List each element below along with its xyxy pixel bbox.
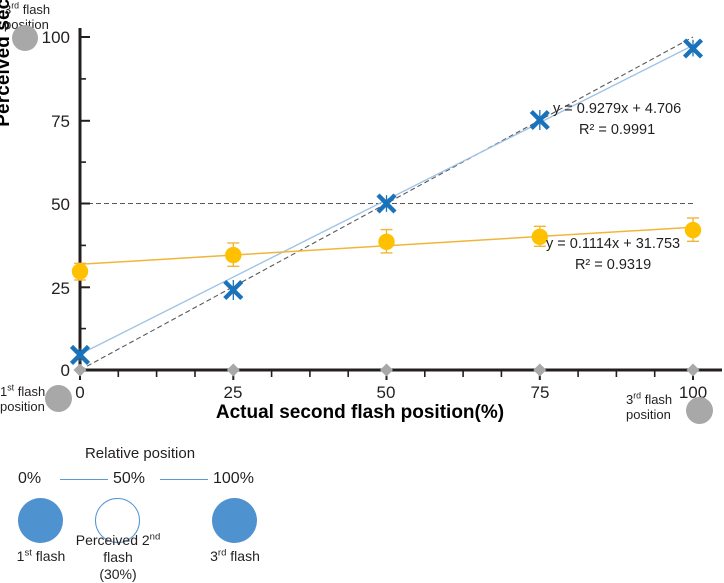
label-line-2: position <box>626 407 672 422</box>
y-tick-label-50: 50 <box>24 196 70 213</box>
label-line-1: 3rd flash <box>4 2 50 17</box>
legend-pct-0: 0% <box>18 470 41 488</box>
third-flash-marker-icon <box>12 25 38 51</box>
label-line-1: 3rd flash <box>626 392 672 407</box>
label-line-2: position <box>0 399 45 414</box>
yellow-fit-equation-line1: y = 0.1114x + 31.753 <box>546 236 680 252</box>
caption-ordinal-suffix: nd <box>150 531 161 542</box>
legend-connector-line-left <box>60 479 108 480</box>
legend-third-flash-circle <box>212 498 257 543</box>
legend-pct-50: 50% <box>113 470 145 488</box>
first-flash-position-label: 1st flash position <box>0 384 45 414</box>
legend-caption-third-flash: 3rd flash <box>196 548 274 565</box>
data-point <box>378 234 394 250</box>
caption-ordinal-number: 3 <box>210 548 218 564</box>
label-word: flash <box>641 392 672 407</box>
label-word: flash <box>19 2 50 17</box>
caption-word: flash <box>103 549 133 565</box>
data-point <box>72 263 88 279</box>
caption-text: Perceived 2 <box>76 532 150 548</box>
caption-ordinal-suffix: st <box>24 547 31 558</box>
x-tick-label-50: 50 <box>356 384 416 401</box>
legend-caption-perceived-flash: Perceived 2nd flash (30%) <box>68 532 168 583</box>
caption-word: flash <box>32 548 65 564</box>
chart-canvas <box>0 0 724 440</box>
legend-pct-100: 100% <box>213 470 254 488</box>
label-ordinal-suffix: rd <box>11 1 19 11</box>
yellow-fit-equation: y = 0.1114x + 31.753 R² = 0.9319 <box>546 234 680 276</box>
caption-line-1: Perceived 2nd flash <box>68 532 168 566</box>
label-word: flash <box>14 384 45 399</box>
legend-connector-line-right <box>160 479 208 480</box>
third-flash-position-label-bottom: 3rd flash position <box>626 392 672 422</box>
legend-title: Relative position <box>0 445 280 462</box>
figure-root: 100 75 50 25 0 0 25 50 75 100 Perceived … <box>0 0 724 556</box>
y-tick-label-25: 25 <box>24 280 70 297</box>
blue-fit-r2: R² = 0.9991 <box>553 120 681 141</box>
blue-fit-equation: y = 0.9279x + 4.706 R² = 0.9991 <box>553 99 681 141</box>
legend-first-flash-circle <box>18 498 63 543</box>
x-tick-label-25: 25 <box>203 384 263 401</box>
x-tick-label-75: 75 <box>510 384 570 401</box>
x-axis-title: Actual second flash position(%) <box>160 402 560 424</box>
data-point <box>685 222 701 238</box>
blue-fit-equation-line1: y = 0.9279x + 4.706 <box>553 101 681 117</box>
third-flash-marker-icon-bottom <box>686 397 713 424</box>
first-flash-marker-icon <box>45 385 72 412</box>
data-point <box>225 247 241 263</box>
yellow-fit-r2: R² = 0.9319 <box>546 255 680 276</box>
label-line-1: 1st flash <box>0 384 45 399</box>
y-tick-label-0: 0 <box>24 362 70 379</box>
label-ordinal-suffix: rd <box>633 391 641 401</box>
relative-position-legend: Relative position 0% 50% 100% 1st flash … <box>0 440 280 556</box>
caption-word: flash <box>226 548 259 564</box>
caption-line-2: (30%) <box>68 566 168 583</box>
